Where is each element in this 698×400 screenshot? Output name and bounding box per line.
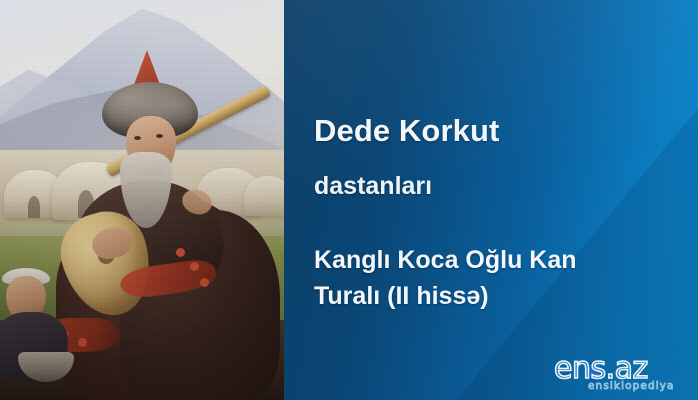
robe-trim-dot (190, 262, 199, 271)
page-title: Dede Korkut (314, 114, 499, 149)
robe-trim-dot (78, 338, 87, 347)
robe-trim-dot (176, 248, 185, 257)
logo-tagline: ensiklopediya (588, 380, 675, 392)
page-subtitle: dastanları (314, 172, 432, 200)
bard-eye (156, 134, 163, 138)
dede-korkut-banner: Dede Korkut dastanları Kanglı Koca Oğlu … (0, 0, 698, 400)
episode-title-line-1: Kanglı Koca Oğlu Kan (314, 246, 577, 274)
episode-title-line-2: Turalı (II hissə) (314, 282, 489, 310)
village-hut (244, 176, 284, 216)
dede-korkut-painting (0, 0, 284, 400)
ens-az-logo-graphic: ens.az ensiklopediya (552, 348, 684, 392)
panel-sheen (284, 0, 698, 400)
robe-trim-dot (200, 278, 209, 287)
title-panel: Dede Korkut dastanları Kanglı Koca Oğlu … (284, 0, 698, 400)
bard-eye (134, 136, 141, 140)
hut-doorway (28, 196, 40, 218)
ens-az-logo[interactable]: ens.az ensiklopediya (552, 348, 684, 392)
episode-title: Kanglı Koca Oğlu Kan Turalı (II hissə) (314, 242, 644, 315)
